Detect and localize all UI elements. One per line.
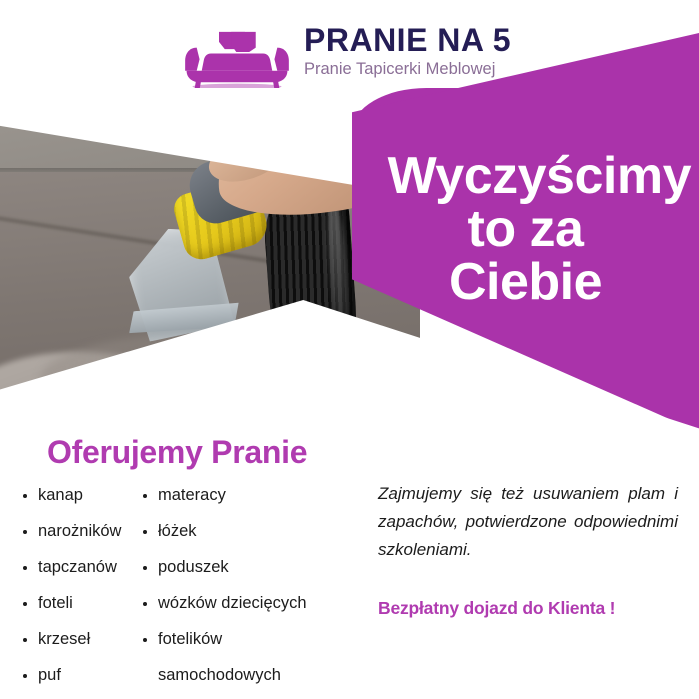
offer-list-item: narożników — [22, 522, 142, 541]
offer-list-item: fotelików — [142, 630, 362, 649]
headline-line-3: Ciebie — [352, 256, 699, 309]
offer-list-item: materacy — [142, 486, 362, 505]
headline-line-1: Wyczyścimy — [352, 150, 699, 203]
logo-text: PRANIE NA 5 Pranie Tapicerki Meblowej — [304, 24, 511, 80]
offer-list-item: krzeseł — [22, 630, 142, 649]
free-delivery-cta: Bezpłatny dojazd do Klienta ! — [378, 598, 615, 619]
offer-list-item: tapczanów — [22, 558, 142, 577]
offer-list-item: wózków dziecięcych — [142, 594, 362, 613]
sofa-icon — [178, 16, 296, 88]
offer-list-item: łóżek — [142, 522, 362, 541]
offer-list-item: poduszek — [142, 558, 362, 577]
offer-list-item: foteli — [22, 594, 142, 613]
logo-title: PRANIE NA 5 — [304, 24, 511, 56]
offer-list-column-1: kanapnarożnikówtapczanówfotelikrzesełpuf — [22, 486, 142, 699]
info-paragraph: Zajmujemy się też usuwaniem plam i zapac… — [378, 480, 678, 564]
headline: Wyczyścimy to za Ciebie — [352, 150, 699, 309]
offer-lists: kanapnarożnikówtapczanówfotelikrzesełpuf… — [22, 486, 362, 699]
brand-logo[interactable]: PRANIE NA 5 Pranie Tapicerki Meblowej — [178, 13, 530, 91]
offer-list-item: samochodowych — [142, 666, 362, 685]
offer-list-item: puf — [22, 666, 142, 685]
offer-title: Oferujemy Pranie — [47, 434, 307, 471]
logo-subtitle: Pranie Tapicerki Meblowej — [304, 59, 511, 80]
headline-line-2: to za — [352, 203, 699, 256]
offer-list-item: kanap — [22, 486, 142, 505]
offer-list-column-2: materacyłóżekpoduszekwózków dziecięcychf… — [142, 486, 362, 699]
promo-poster: Wyczyścimy to za Ciebie PRANIE NA 5 Pran… — [0, 0, 699, 699]
